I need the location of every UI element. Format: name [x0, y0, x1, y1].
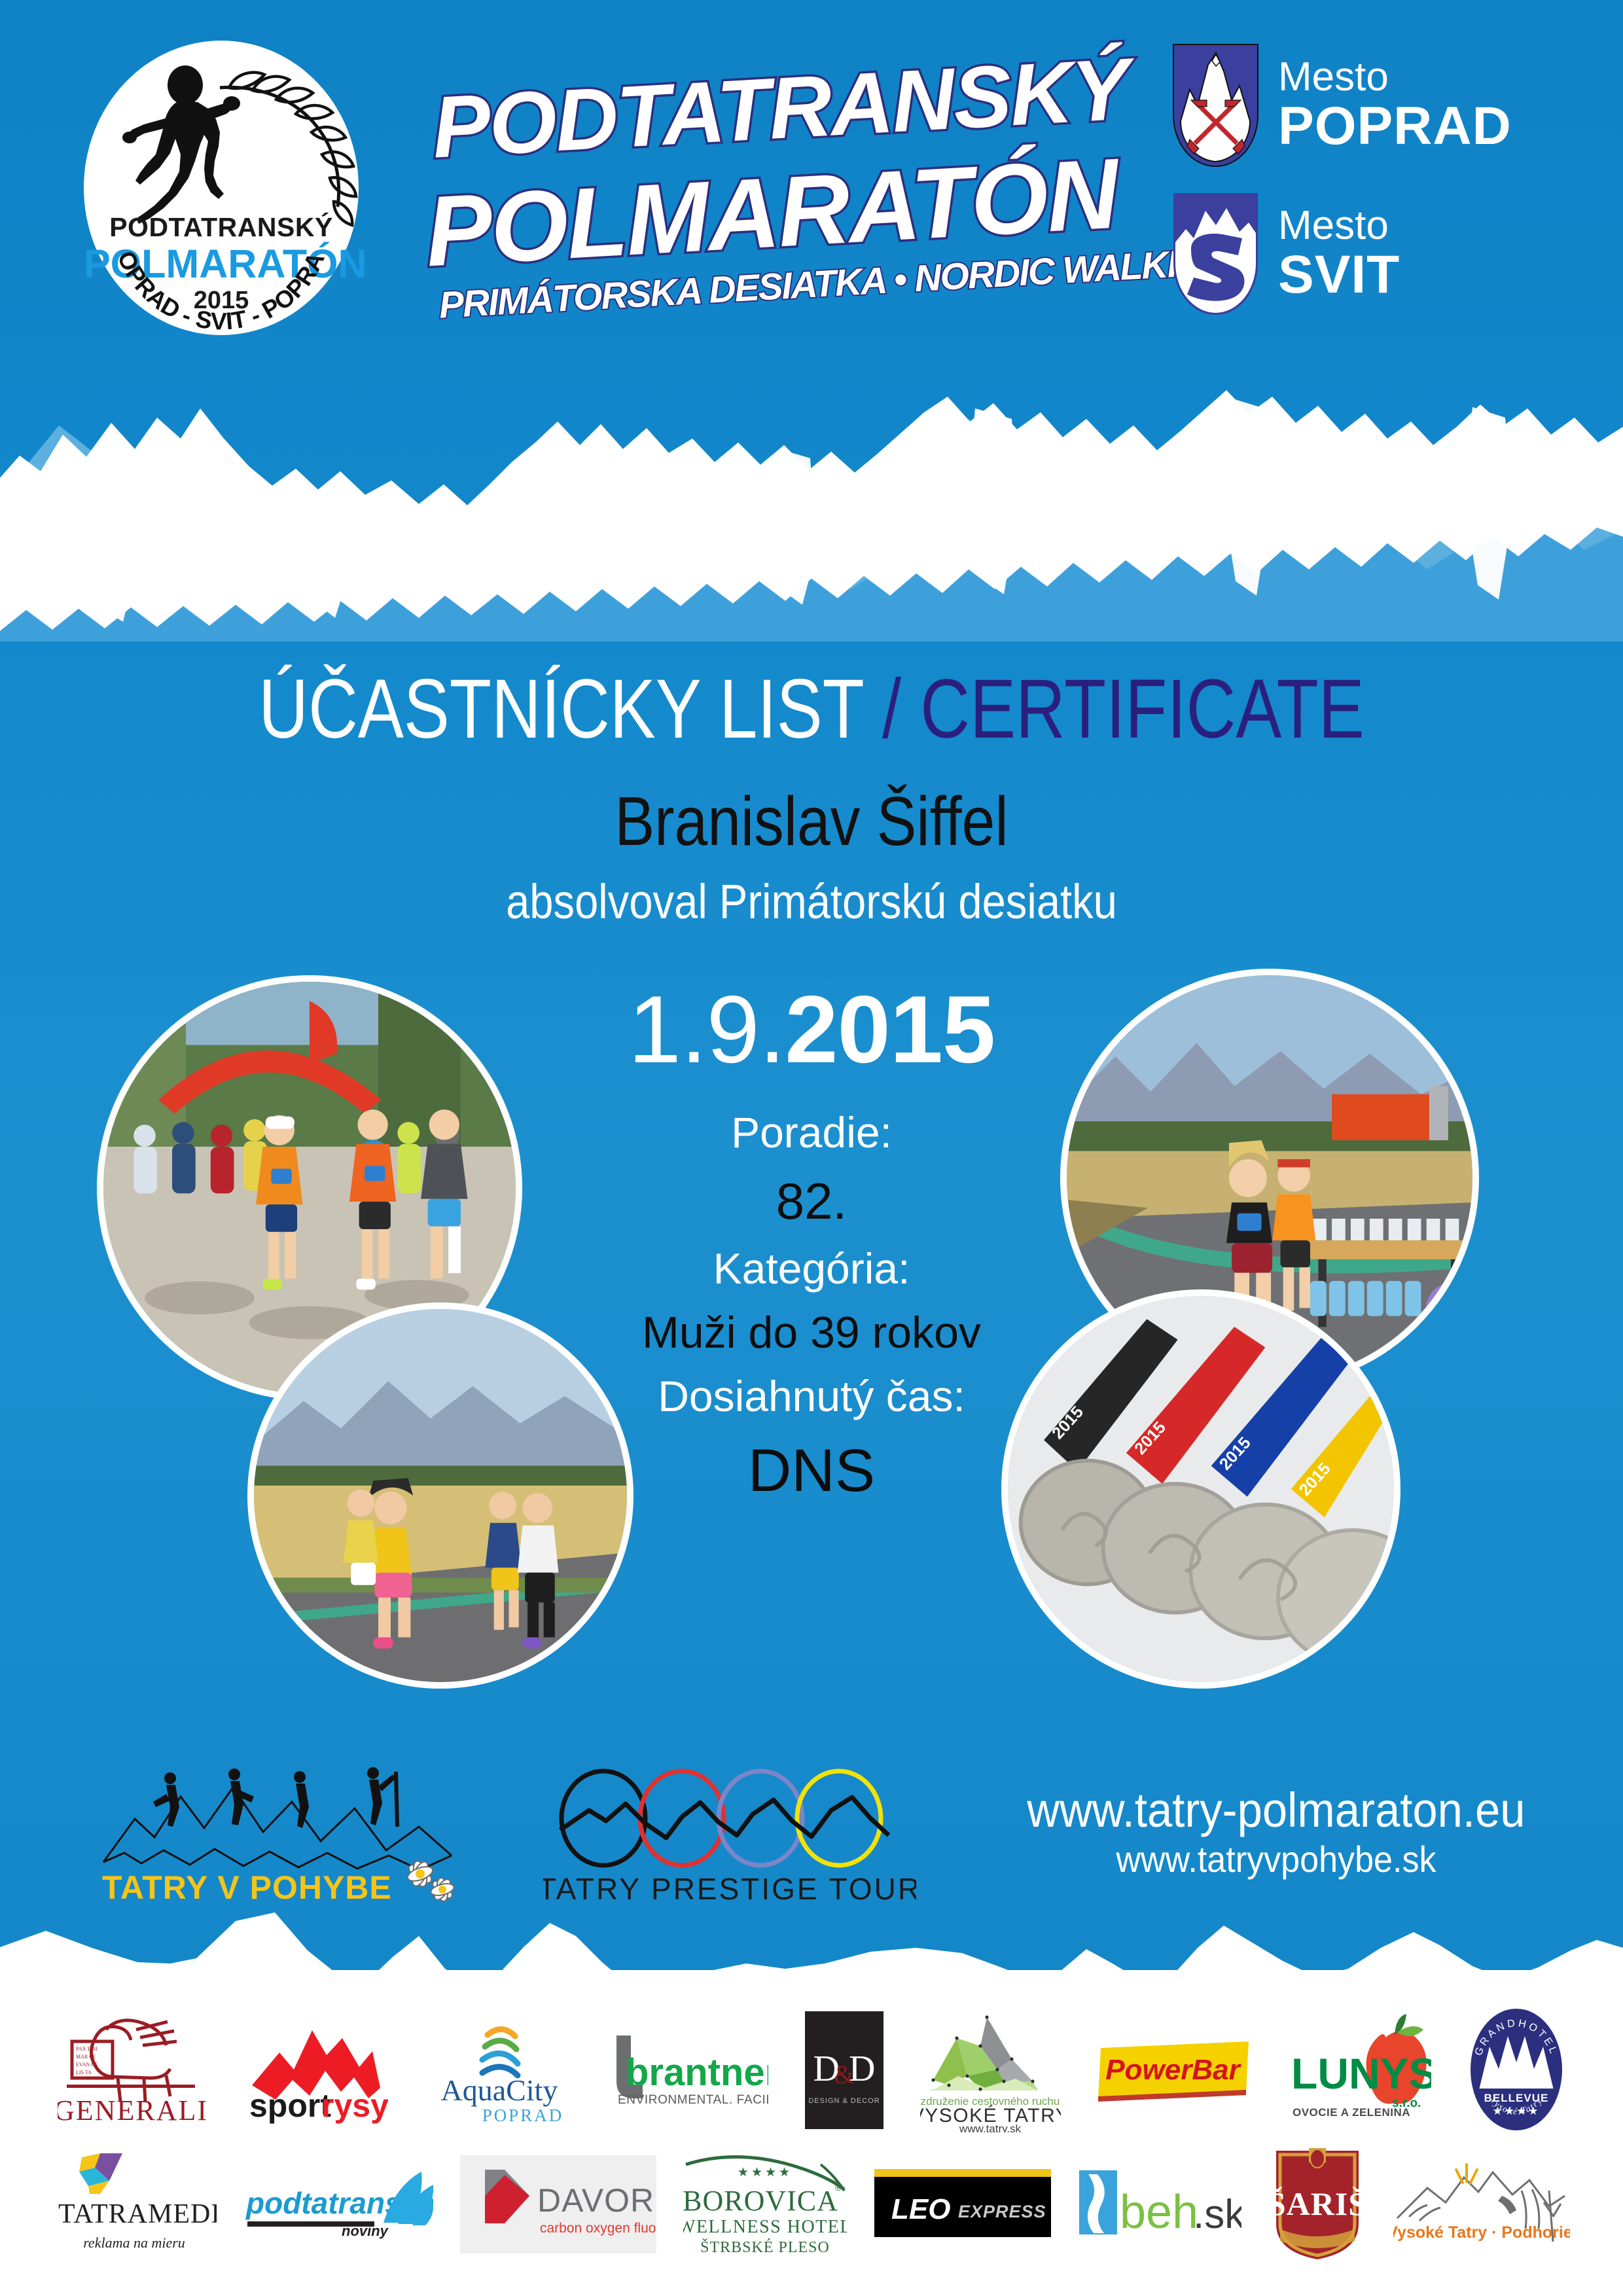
svit-coat-of-arms-icon	[1171, 191, 1260, 317]
sponsor-saris: ŠARIŠ	[1268, 2140, 1366, 2268]
tatry-v-pohybe-label: TATRY V POHYBE	[102, 1869, 392, 1906]
sponsor-strip: PAX TIBIMAR CEEVAN GELIS TA GENERALI spo…	[0, 2000, 1623, 2296]
borovica-label: BOROVICA	[683, 2185, 838, 2217]
lunys-sub: OVOCIE A ZELENINA	[1293, 2106, 1410, 2119]
page-title-en: / CERTIFICATE	[882, 662, 1364, 756]
event-seal-logo: PODTATRANSKÝ POLMARATÓN 2015 POPRAD - SV…	[84, 41, 359, 335]
davorin-label: DAVORIN	[537, 2182, 656, 2219]
davorin-sub: carbon oxygen fluorine	[540, 2221, 656, 2236]
sponsor-dd: D D & DESIGN & DECOR	[805, 2000, 883, 2140]
event-date-year: 2015	[785, 976, 995, 1083]
event-wordmark: PODTATRANSKÝ POLMARATÓN PRIMÁTORSKA DESI…	[425, 46, 1145, 321]
tatry-prestige-tour-label: TATRY PRESTIGE TOUR	[543, 1872, 916, 1906]
sponsor-behsk: beh .sk	[1078, 2140, 1241, 2268]
svg-text:LIS TA: LIS TA	[76, 2070, 92, 2075]
podhorie-label: Vysoké Tatry · Podhorie	[1393, 2223, 1570, 2242]
rank-label: Poradie:	[484, 1101, 1139, 1165]
crest-svit-sub: Mesto	[1278, 204, 1400, 247]
tatramedia-sub: reklama na mieru	[83, 2234, 185, 2251]
crest-svit: Mesto SVIT	[1171, 187, 1538, 321]
rank-value: 82.	[484, 1165, 1139, 1238]
tatramedia-diamond-icon	[79, 2153, 122, 2194]
powerbar-label: PowerBar	[1105, 2054, 1241, 2086]
vt-url: www.tatry.sk	[958, 2123, 1021, 2132]
lunys-label: LUNYS	[1291, 2049, 1431, 2098]
sponsor-generali: PAX TIBIMAR CEEVAN GELIS TA GENERALI	[58, 2000, 208, 2140]
vysoke-tatry-polygon-mountains-icon	[929, 2015, 1038, 2090]
sponsor-sportrysy: sport rysy	[244, 2000, 388, 2140]
svg-text:rysy: rysy	[321, 2087, 388, 2124]
sponsor-vysoke-tatry: združenie cestovného ruchu VYSOKÉ TATRY …	[920, 2000, 1061, 2140]
crest-poprad-name: POPRAD	[1278, 98, 1512, 154]
aquacity-sub: POPRAD	[482, 2106, 564, 2125]
express-label: EXPRESS	[958, 2202, 1046, 2221]
svg-text:&: &	[834, 2060, 854, 2089]
noviny-label: noviny	[342, 2223, 389, 2239]
saris-label: ŠARIŠ	[1268, 2185, 1366, 2222]
tatry-prestige-tour-logo: TATRY PRESTIGE TOUR	[543, 1767, 916, 1908]
event-date-day: 1.9.	[628, 976, 785, 1083]
brantner-label: brantner	[626, 2051, 768, 2094]
leo-label: LEO	[891, 2193, 950, 2225]
sponsor-grandhotel-bellevue: GRANDHOTEL BELLEVUE ★★★★ Vysoké Tatry	[1467, 2000, 1565, 2140]
sponsor-leo-express: LEO EXPRESS	[874, 2140, 1051, 2268]
aquacity-waves-icon	[482, 2029, 518, 2075]
seal-route-arc: POPRAD - SVIT - POPRAD	[84, 41, 359, 335]
website-urls: www.tatry-polmaraton.eu www.tatryvpohybe…	[962, 1784, 1590, 1881]
city-crest-group: Mesto POPRAD Mesto SVIT	[1171, 38, 1538, 332]
sponsor-podhorie: Vysoké Tatry · Podhorie	[1393, 2140, 1570, 2268]
borovica-sub: WELLNESS HOTEL	[683, 2217, 847, 2237]
svg-text:★★★★: ★★★★	[738, 2166, 793, 2179]
behsk-suffix: .sk	[1193, 2192, 1241, 2237]
svg-text:POPRAD - SVIT - POPRAD: POPRAD - SVIT - POPRAD	[84, 41, 330, 335]
dd-sub: DESIGN & DECOR	[808, 2097, 880, 2105]
sponsor-powerbar: PowerBar	[1097, 2000, 1251, 2140]
event-date: 1.9.2015	[484, 982, 1139, 1077]
sponsor-tatramedia: TATRAMEDIA reklama na mieru	[53, 2140, 217, 2268]
brantner-sub: ENVIRONMENTAL. FACILITY SERVICES	[618, 2093, 768, 2107]
sponsor-podtatranske-noviny: podtatranské noviny	[243, 2140, 433, 2268]
tatramedia-label: TATRAMEDIA	[58, 2199, 217, 2229]
crest-poprad: Mesto POPRAD	[1171, 38, 1538, 172]
borovica-extra: ŠTRBSKÉ PLESO	[701, 2238, 830, 2256]
crest-svit-name: SVIT	[1278, 247, 1400, 303]
page-title: ÚČASTNÍCKY LIST / CERTIFICATE	[146, 661, 1477, 757]
url-secondary[interactable]: www.tatryvpohybe.sk	[984, 1838, 1569, 1881]
achievement-text: absolvoval Primátorskú desiatku	[98, 874, 1525, 929]
crest-poprad-sub: Mesto	[1278, 56, 1512, 98]
svg-text:®: ®	[835, 2182, 842, 2193]
svg-text:PAX TIBI: PAX TIBI	[76, 2046, 98, 2052]
poprad-coat-of-arms-icon	[1171, 43, 1260, 168]
svg-text:sport: sport	[249, 2087, 331, 2124]
svg-text:MAR CE: MAR CE	[76, 2054, 96, 2060]
svg-text:EVAN GE: EVAN GE	[76, 2062, 98, 2068]
sponsor-brantner: brantner ENVIRONMENTAL. FACILITY SERVICE…	[611, 2000, 768, 2140]
field-run-photo	[247, 1302, 633, 1689]
poster-header: PODTATRANSKÝ POLMARATÓN 2015 POPRAD - SV…	[0, 0, 1623, 367]
sponsor-borovica: ★★★★ BOROVICA ® WELLNESS HOTEL ŠTRBSKÉ P…	[683, 2140, 847, 2268]
sponsor-aquacity: AquaCity POPRAD	[425, 2000, 575, 2140]
medals-photo: 2015 2015 2015 2015	[1001, 1289, 1400, 1689]
sponsor-lunys: LUNYS s.r.o. OVOCIE A ZELENINA	[1287, 2000, 1431, 2140]
category-label: Kategória:	[484, 1237, 1139, 1301]
category-value: Muži do 39 rokov	[484, 1301, 1139, 1365]
page-title-sk: ÚČASTNÍCKY LIST	[259, 662, 882, 756]
athlete-name: Branislav Šiffel	[114, 782, 1510, 861]
tatry-v-pohybe-logo: TATRY V POHYBE	[98, 1764, 465, 1911]
sponsor-davorin: DAVORIN carbon oxygen fluorine	[460, 2140, 656, 2268]
generali-label: GENERALI	[58, 2094, 208, 2126]
url-primary[interactable]: www.tatry-polmaraton.eu	[984, 1784, 1569, 1838]
aquacity-label: AquaCity	[440, 2073, 558, 2107]
tatra-mountain-band	[0, 340, 1623, 641]
behsk-label: beh	[1120, 2186, 1198, 2238]
